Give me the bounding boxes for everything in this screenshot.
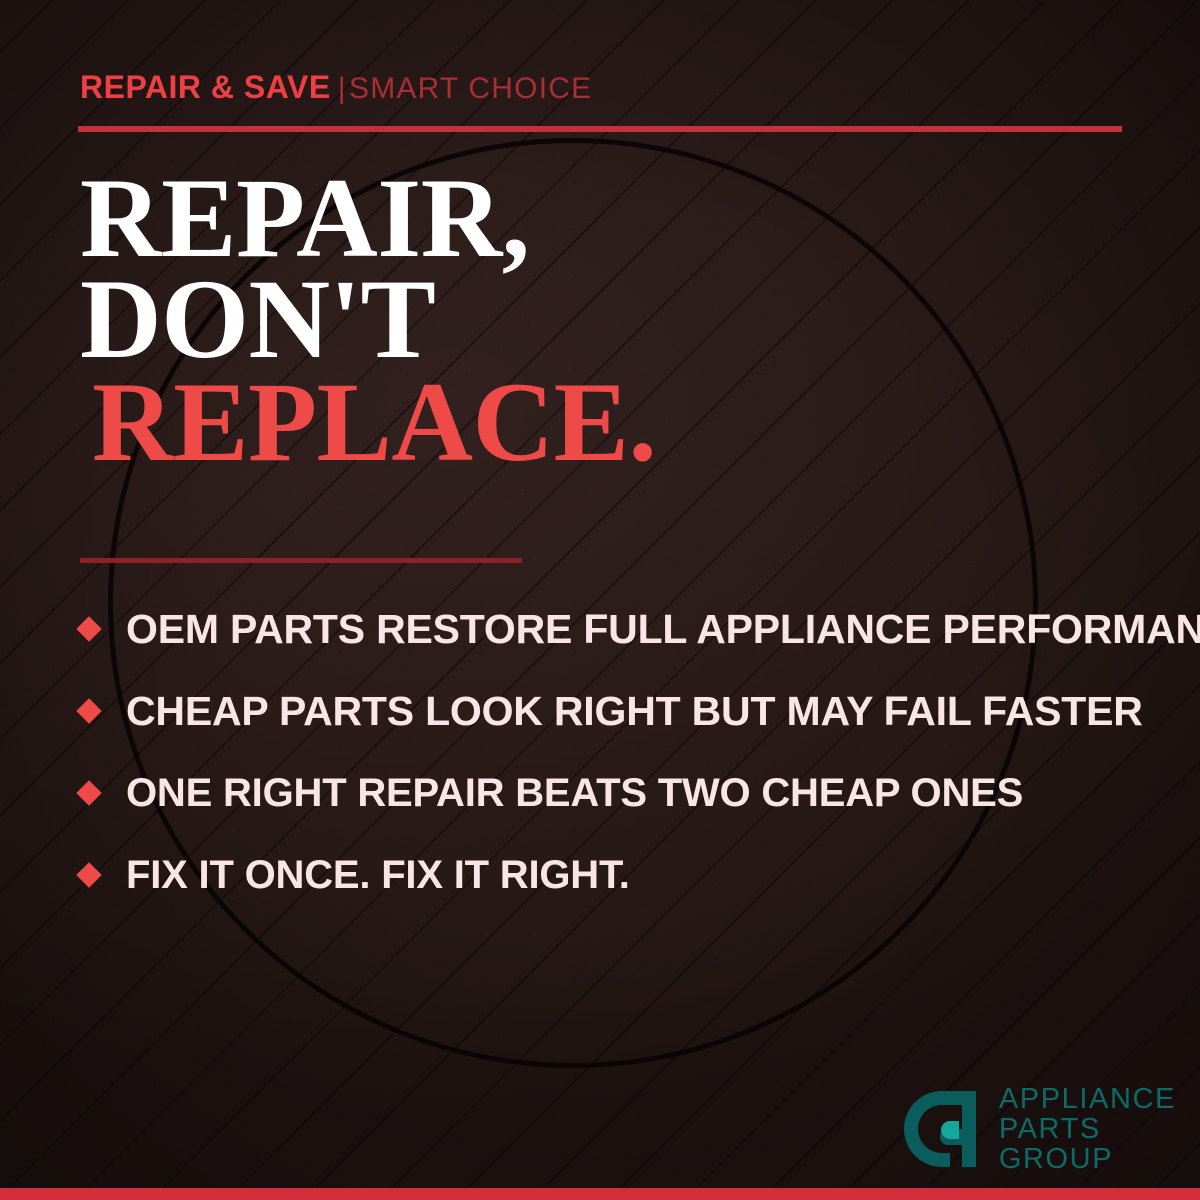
list-item: FIX IT ONCE. FIX IT RIGHT. <box>80 834 1160 916</box>
headline-accent-line: REPLACE. <box>80 372 656 473</box>
eyebrow-strong-text: REPAIR & SAVE <box>80 69 331 105</box>
brand-logo-line-1: APPLIANCE <box>999 1084 1176 1114</box>
eyebrow-kicker: REPAIR & SAVE|SMART CHOICE <box>80 71 592 104</box>
eyebrow-separator: | <box>331 72 349 105</box>
brand-logo-line-2: PARTS <box>999 1114 1176 1144</box>
page-title: REPAIR, DON'T REPLACE. <box>80 168 656 473</box>
list-item-label: OEM PARTS RESTORE FULL APPLIANCE PERFORM… <box>126 606 1200 653</box>
headline-line-2: DON'T <box>80 269 656 370</box>
list-item: CHEAP PARTS LOOK RIGHT BUT MAY FAIL FAST… <box>80 670 1160 752</box>
mid-rule-divider <box>80 558 522 563</box>
promotional-poster: REPAIR & SAVE|SMART CHOICE REPAIR, DON'T… <box>0 0 1200 1200</box>
brand-logo: APPLIANCE PARTS GROUP <box>898 1084 1176 1174</box>
top-rule-divider <box>78 126 1122 132</box>
diamond-bullet-icon <box>76 616 101 641</box>
headline-line-1: REPAIR, <box>80 168 656 269</box>
list-item: ONE RIGHT REPAIR BEATS TWO CHEAP ONES <box>80 752 1160 834</box>
poster-content: REPAIR & SAVE|SMART CHOICE REPAIR, DON'T… <box>0 0 1200 1200</box>
brand-logo-wordmark: APPLIANCE PARTS GROUP <box>999 1084 1176 1174</box>
diamond-bullet-icon <box>76 698 101 723</box>
g-monogram-icon <box>898 1085 986 1173</box>
list-item-label: CHEAP PARTS LOOK RIGHT BUT MAY FAIL FAST… <box>126 688 1143 735</box>
list-item-label: FIX IT ONCE. FIX IT RIGHT. <box>126 853 630 898</box>
eyebrow-light-text: SMART CHOICE <box>349 72 592 105</box>
diamond-bullet-icon <box>76 862 101 887</box>
diamond-bullet-icon <box>76 780 101 805</box>
brand-logo-line-3: GROUP <box>999 1144 1176 1174</box>
bottom-accent-bar <box>0 1188 1200 1200</box>
list-item: OEM PARTS RESTORE FULL APPLIANCE PERFORM… <box>80 588 1160 670</box>
benefits-list: OEM PARTS RESTORE FULL APPLIANCE PERFORM… <box>80 588 1160 916</box>
list-item-label: ONE RIGHT REPAIR BEATS TWO CHEAP ONES <box>126 771 1023 816</box>
